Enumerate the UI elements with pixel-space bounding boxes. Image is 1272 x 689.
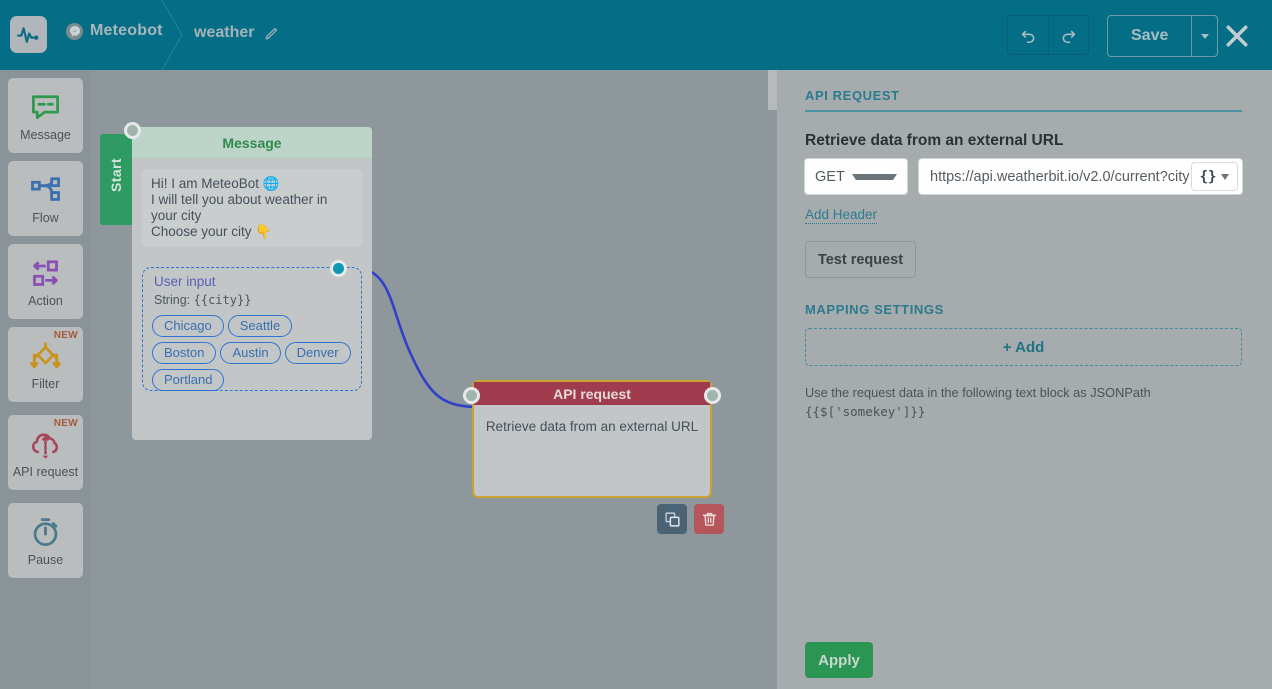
filter-diamond-icon [29,339,62,375]
save-button-group: Save [1107,15,1218,57]
mapping-hint: Use the request data in the following te… [805,383,1225,421]
undo-arrow-icon [1019,26,1038,45]
user-input-block[interactable]: User input String: {{city}} Chicago Seat… [142,267,362,391]
chevron-down-icon [852,174,897,180]
chip-button[interactable]: Chicago [152,315,224,337]
api-request-node[interactable]: API request Retrieve data from an extern… [472,380,712,498]
top-header: Meteobot weather [0,0,1272,70]
undo-redo-group [1007,15,1089,55]
redo-button[interactable] [1048,15,1089,55]
http-method-value: GET [815,169,852,185]
user-input-variable: String: {{city}} [154,293,251,307]
pencil-icon[interactable] [264,25,280,41]
http-method-select[interactable]: GET [804,158,908,195]
left-sidebar: Message Flow [0,70,91,689]
stopwatch-icon [29,515,62,551]
sidebar-item-label: Flow [32,212,58,225]
chip-button[interactable]: Denver [285,342,351,364]
redo-arrow-icon [1059,26,1078,45]
start-tab-label: Start [108,141,124,209]
messenger-icon [66,23,83,40]
flow-title: weather [194,24,280,42]
node-input-port[interactable] [124,122,141,139]
chip-button[interactable]: Austin [220,342,280,364]
canvas-scrollbar[interactable] [768,70,777,110]
copy-node-button[interactable] [657,504,687,534]
message-bubble[interactable]: Hi! I am MeteoBot 🌐 I will tell you abou… [142,169,362,247]
breadcrumb-bot[interactable]: Meteobot [66,22,163,40]
sidebar-item-pause[interactable]: Pause [8,503,83,578]
save-button[interactable]: Save [1108,16,1191,56]
mapping-hint-line1: Use the request data in the following te… [805,383,1225,402]
trash-icon [701,511,718,528]
message-line: I will tell you about weather in [151,192,353,208]
sidebar-item-label: Action [28,295,63,308]
user-input-var-token: {{city}} [194,293,252,307]
add-mapping-label: + Add [1003,339,1045,356]
message-node-header: Message [132,127,372,158]
sidebar-item-label: Message [20,129,71,142]
chip-button[interactable]: Seattle [228,315,292,337]
flow-canvas[interactable]: Start Message Hi! I am MeteoBot 🌐 I will… [91,70,777,689]
chevron-down-icon [1221,174,1229,180]
card-title: Retrieve data from an external URL [805,132,1063,150]
breadcrumb-separator [152,0,192,70]
delete-node-button[interactable] [694,504,724,534]
undo-button[interactable] [1007,15,1048,55]
sidebar-item-label: Filter [32,378,60,391]
new-badge: NEW [54,418,78,429]
start-tab: Start [100,134,132,225]
url-input[interactable]: https://api.weatherbit.io/v2.0/current?c… [918,158,1243,195]
chevron-down-icon [1201,34,1209,39]
api-node-title: API request [553,386,631,402]
panel-section-title: API REQUEST [805,88,900,103]
message-node[interactable]: Start Message Hi! I am MeteoBot 🌐 I will… [132,127,372,440]
sidebar-item-flow[interactable]: Flow [8,161,83,236]
sidebar-item-api-request[interactable]: NEW API request [8,415,83,490]
api-node-header: API request [474,382,710,405]
user-input-title: User input [154,274,216,289]
node-output-port[interactable] [330,260,347,277]
mapping-section-title: MAPPING SETTINGS [805,302,944,317]
message-line: Choose your city 👇 [151,224,353,240]
add-header-link[interactable]: Add Header [805,207,877,224]
api-node-body: Retrieve data from an external URL [474,405,710,434]
new-badge: NEW [54,330,78,341]
sidebar-item-label: Pause [28,554,63,567]
sidebar-item-message[interactable]: Message [8,78,83,153]
sidebar-item-label: API request [13,466,78,479]
braces-variable-icon: {} [1200,169,1217,185]
flow-branch-icon [29,173,62,209]
save-dropdown-button[interactable] [1191,16,1217,56]
message-node-title: Message [222,135,281,151]
node-input-port[interactable] [463,387,480,404]
url-input-value: https://api.weatherbit.io/v2.0/current?c… [930,169,1191,185]
speech-bubble-icon [29,90,62,126]
copy-icon [664,511,681,528]
user-input-type-label: String: [154,293,190,307]
message-line: Hi! I am MeteoBot 🌐 [151,176,353,192]
app-logo[interactable] [10,16,47,53]
chip-button[interactable]: Boston [152,342,216,364]
quick-reply-chips: Chicago Seattle Boston Austin Denver Por… [152,315,358,391]
test-request-button[interactable]: Test request [805,241,916,278]
message-line: your city [151,208,353,224]
flow-title-label: weather [194,24,254,42]
add-mapping-button[interactable]: + Add [805,328,1242,366]
close-x-icon[interactable] [1222,21,1252,51]
mapping-hint-line2: {{$['somekey']}} [805,404,925,419]
chip-button[interactable]: Portland [152,369,224,391]
node-output-port[interactable] [704,387,721,404]
insert-variable-button[interactable]: {} [1191,162,1238,191]
sidebar-item-filter[interactable]: NEW Filter [8,327,83,402]
activity-pulse-icon [16,22,41,47]
node-action-bar [657,504,724,534]
cloud-upload-icon [29,427,62,463]
action-arrows-icon [29,256,62,292]
sidebar-item-action[interactable]: Action [8,244,83,319]
panel-section-divider [805,110,1242,112]
apply-button[interactable]: Apply [805,642,873,678]
